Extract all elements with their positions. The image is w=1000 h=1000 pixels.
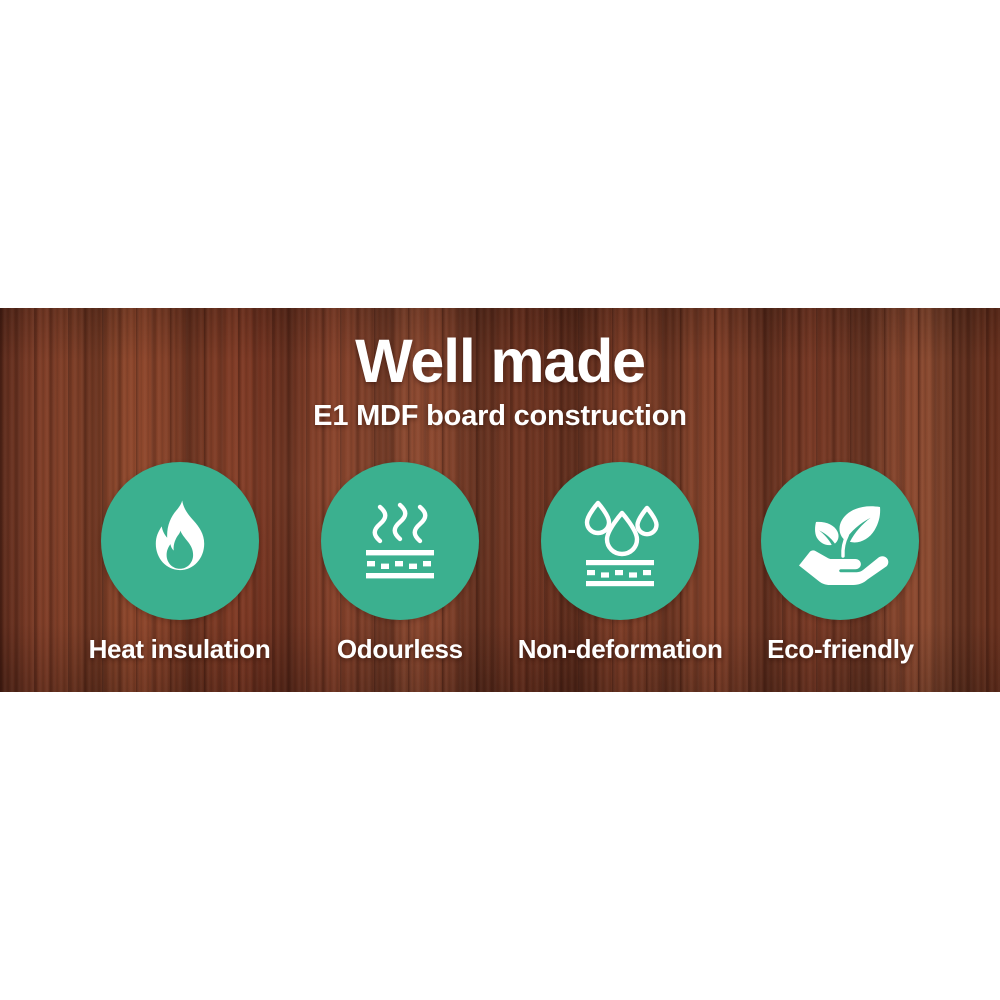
page-subtitle: E1 MDF board construction bbox=[0, 401, 1000, 433]
feature-item-eco-friendly[interactable]: Eco-friendly bbox=[733, 462, 948, 665]
feature-icon-badge bbox=[761, 462, 919, 620]
feature-icon-badge bbox=[321, 462, 479, 620]
feature-item-heat-insulation[interactable]: Heat insulation bbox=[72, 462, 287, 665]
feature-label: Non-deformation bbox=[518, 634, 723, 665]
feature-label: Eco-friendly bbox=[767, 634, 914, 665]
page-title: Well made bbox=[0, 330, 1000, 392]
product-feature-banner: Well made E1 MDF board construction Heat… bbox=[0, 0, 1000, 1000]
feature-item-non-deformation[interactable]: Non-deformation bbox=[513, 462, 728, 665]
feature-item-odourless[interactable]: Odourless bbox=[292, 462, 507, 665]
feature-label: Heat insulation bbox=[89, 634, 271, 665]
feature-icon-badge bbox=[101, 462, 259, 620]
flame-icon bbox=[132, 493, 228, 589]
feature-label: Odourless bbox=[337, 634, 463, 665]
steam-waves-board-icon bbox=[350, 491, 450, 591]
feature-icon-badge bbox=[541, 462, 699, 620]
hand-holding-leaves-icon bbox=[788, 489, 892, 593]
water-droplets-board-icon bbox=[570, 491, 670, 591]
heading-block: Well made E1 MDF board construction bbox=[0, 330, 1000, 433]
feature-list: Heat insulation bbox=[72, 462, 948, 672]
